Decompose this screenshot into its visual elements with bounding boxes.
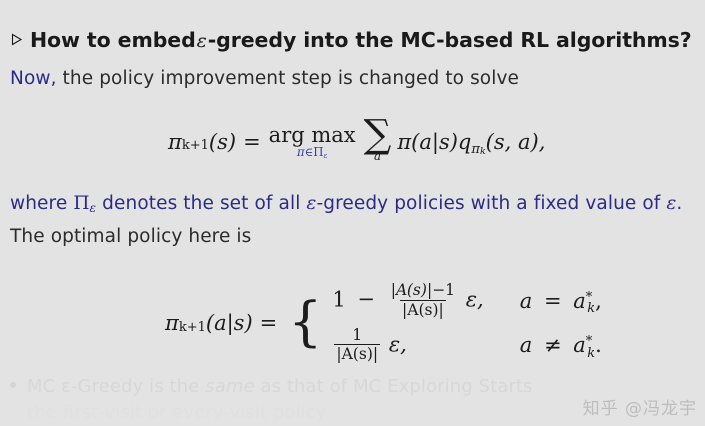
eq1-under-in: ∈ [305, 145, 314, 159]
eq2-c2-cond-rel: ≠ [544, 333, 562, 357]
eq2-lhs-sub: k+1 [179, 320, 206, 335]
triangle-right-outline-icon [10, 33, 23, 46]
eq2-cases: { 1 − |A(s)|−1 |A(s)| ε, a [284, 283, 602, 363]
eq1-lhs-pi: π [168, 130, 182, 154]
eq2-case1-denominator: |A(s)| [400, 300, 446, 318]
equation-policy-improvement: πk+1(s) = arg max π∈Πε ∑ a π(a|s)qπk(s, … [168, 120, 545, 163]
eq1-summation: ∑ a [364, 120, 392, 163]
eq2-case2-fraction: 1 |A(s)| [334, 327, 380, 363]
eq1-argmax-under: π∈Πε [297, 147, 328, 159]
bullet-dot-icon [10, 382, 16, 388]
slide-canvas: How to embed ε-greedy into the MC-based … [0, 0, 705, 423]
sum-symbol-icon: ∑ [364, 120, 392, 150]
eq2-c1-num-arg: (s) [407, 281, 427, 299]
slide-heading: How to embed ε-greedy into the MC-based … [10, 28, 692, 52]
eq2-case1-condition: a = a*k, [520, 289, 602, 313]
intro-highlight: Now, [10, 68, 57, 89]
eq1-argmax-label: arg max [269, 125, 356, 146]
eq2-c1-cond-a: a [520, 289, 533, 313]
eq2-c1-cond-sub: k [587, 301, 595, 316]
eq2-case2-condition: a ≠ a*k. [520, 333, 602, 357]
where-before: where [10, 193, 73, 214]
eq2-c1-cond-rel: = [544, 289, 562, 313]
eq1-equals: = [243, 130, 261, 154]
optimal-policy-line: The optimal policy here is [10, 226, 251, 247]
eq1-term-q-sub-pi: π [471, 142, 480, 157]
where-period: . [676, 193, 682, 214]
intro-line: Now, the policy improvement step is chan… [10, 68, 519, 89]
where-epsilon-end: ε [666, 193, 676, 214]
watermark-zhihu: 知乎 @冯龙宇 [583, 394, 697, 419]
eq2-case2-numerator: 1 [350, 327, 364, 344]
eq1-sum-index: a [374, 151, 381, 163]
eq2-case2-expression: 1 |A(s)| ε, [332, 328, 483, 364]
where-middle: denotes the set of all [96, 193, 306, 214]
left-brace-icon: { [288, 299, 322, 345]
eq2-equals: = [260, 311, 278, 335]
eq2-case1-epsilon: ε, [466, 287, 484, 311]
eq1-term-pi-arg: (a|s) [411, 130, 458, 154]
eq2-case1-minus: − [357, 287, 375, 311]
faded-b1-before: MC ε-Greedy is the [27, 376, 205, 397]
eq2-c1-num-cal-a: A [396, 281, 407, 299]
eq1-under-set-sub: ε [324, 151, 328, 160]
eq1-lhs-sub: k+1 [182, 138, 209, 153]
eq2-c2-cond-sub: k [587, 346, 595, 361]
eq2-c2-cond-a: a [520, 333, 533, 357]
eq1-under-set: Π [313, 145, 323, 159]
heading-text-part2: -greedy into the MC-based RL algorithms? [208, 28, 692, 52]
eq2-case1-numerator: |A(s)|−1 [389, 282, 457, 299]
where-epsilon: ε [306, 193, 316, 214]
eq1-argmax-operator: arg max π∈Πε [269, 125, 356, 159]
eq2-case1-fraction: |A(s)|−1 |A(s)| [389, 282, 457, 318]
eq2-lhs-arg: (a|s) [206, 311, 253, 335]
eq1-lhs-arg: (s) [209, 130, 236, 154]
eq2-c1-cond-end: , [595, 289, 602, 313]
eq2-c2-cond-end: . [595, 333, 602, 357]
eq2-case2-denominator: |A(s)| [334, 344, 380, 362]
eq2-c1-cond-astar: a [573, 289, 586, 313]
eq2-lhs-pi: π [165, 311, 179, 335]
eq2-c2-cond-astar: a [573, 333, 586, 357]
where-after: -greedy policies with a fixed value of [316, 193, 666, 214]
eq1-term-q-sub-k: k [480, 146, 486, 157]
eq1-term-q: q [458, 130, 471, 154]
heading-text-part1: How to embed [30, 28, 196, 52]
eq1-term-pi: π [397, 130, 411, 154]
where-definition-line: where Πε denotes the set of all ε-greedy… [10, 193, 682, 215]
equation-optimal-policy: πk+1(a|s) = { 1 − |A(s)|−1 |A(s)| ε, [165, 283, 602, 363]
intro-rest: the policy improvement step is changed t… [57, 68, 519, 89]
faded-b1-after: as that of MC Exploring Starts [255, 376, 533, 397]
eq2-case2-epsilon: ε, [389, 332, 407, 356]
faded-b1-em: same [205, 376, 254, 397]
eq1-term-q-arg: (s, a), [486, 130, 546, 154]
heading-epsilon: ε [196, 30, 208, 52]
eq2-case1-expression: 1 − |A(s)|−1 |A(s)| ε, [332, 283, 483, 319]
eq2-case1-one: 1 [332, 287, 345, 311]
eq1-under-pi: π [297, 145, 305, 159]
eq2-c1-num-minus-one: −1 [432, 281, 455, 299]
where-pi-set: Π [73, 193, 89, 214]
